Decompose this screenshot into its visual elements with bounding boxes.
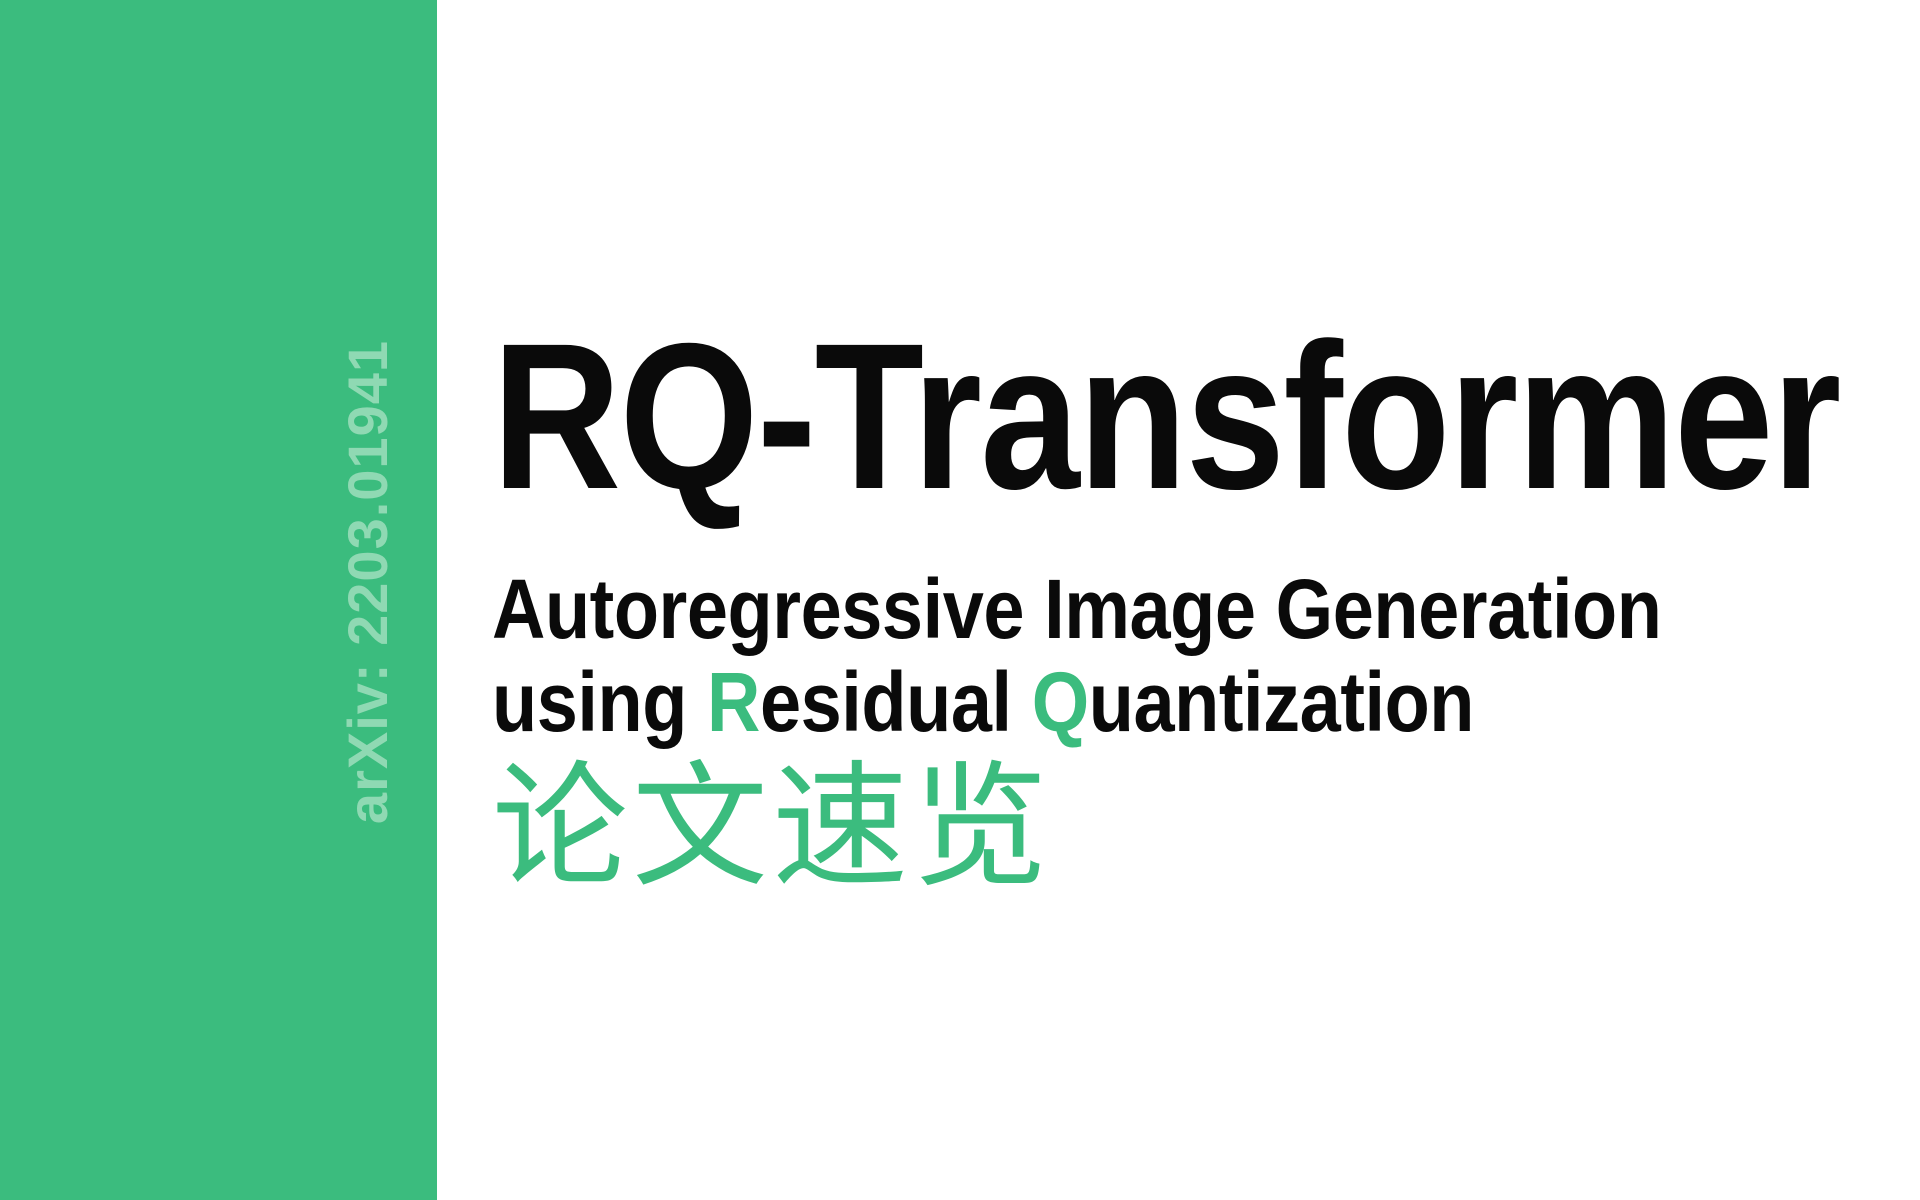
main-content: RQ-Transformer Autoregressive Image Gene… [492, 0, 1920, 1200]
subtitle-word-esidual: esidual [760, 655, 1032, 749]
cjk-tagline: 论文速览 [492, 760, 1052, 896]
subtitle-highlight-q: Q [1032, 655, 1089, 749]
subtitle-word-using: using [492, 655, 707, 749]
subtitle-highlight-r: R [707, 655, 760, 749]
page-title: RQ-Transformer [492, 318, 1840, 518]
arxiv-id-label: arXiv: 2203.01941 [340, 340, 396, 824]
subtitle-line-one: Autoregressive Image Generation [492, 565, 1661, 653]
poster-root: arXiv: 2203.01941 RQ-Transformer Autoreg… [0, 0, 1920, 1200]
subtitle-word-uantization: uantization [1089, 655, 1474, 749]
left-green-sidebar: arXiv: 2203.01941 [0, 0, 437, 1200]
subtitle-line-two: using Residual Quantization [492, 658, 1474, 746]
arxiv-id-container: arXiv: 2203.01941 [337, 340, 399, 1020]
